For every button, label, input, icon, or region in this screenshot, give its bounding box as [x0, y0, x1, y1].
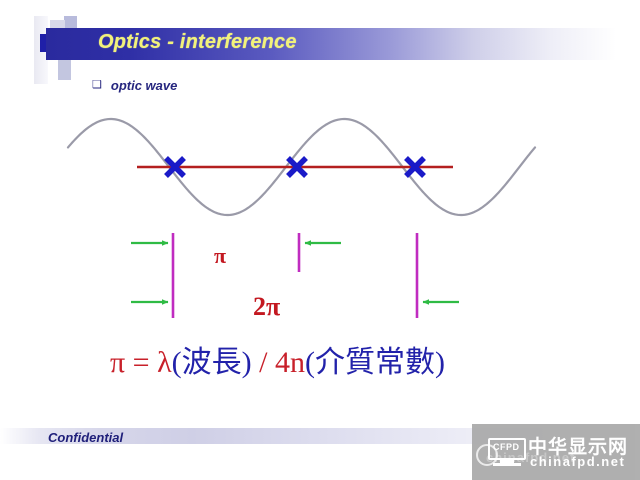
formula-part-5: 4n — [275, 346, 305, 379]
pi-label-half: 2π — [253, 292, 280, 322]
crossing-marker-group — [166, 158, 424, 176]
formula-part-0: π — [110, 346, 125, 379]
crossing-marker-2-stroke-b — [288, 158, 306, 176]
pi-label-quarter: π — [214, 243, 226, 269]
crossing-marker-2-stroke-a — [288, 158, 306, 176]
sine-wave-path — [68, 119, 535, 215]
confidential-label: Confidential — [48, 430, 123, 445]
crossing-marker-1-stroke-a — [166, 158, 184, 176]
formula-part-1: = — [125, 346, 157, 379]
interference-diagram — [0, 0, 640, 480]
crossing-marker-1 — [166, 158, 184, 176]
crossing-marker-2 — [288, 158, 306, 176]
site-watermark: CFPD chinafpd.net 中华显示网 chinafpd.net — [472, 424, 640, 480]
phase-formula: π = λ(波長) / 4n(介質常數) — [110, 346, 445, 379]
hollow-square-bullet-icon: ❑ — [92, 80, 102, 91]
formula-part-3: (波長) — [172, 346, 252, 379]
formula-part-4: / — [252, 346, 275, 379]
formula-part-2: λ — [157, 346, 172, 379]
crossing-marker-3-stroke-b — [406, 158, 424, 176]
slide-canvas: Optics - interference ❑ optic wave π 2π … — [0, 0, 640, 480]
crossing-marker-3-stroke-a — [406, 158, 424, 176]
tick-line-group — [173, 233, 417, 318]
watermark-url: chinafpd.net — [530, 454, 625, 469]
bullet-row: ❑ optic wave — [92, 78, 177, 93]
crossing-marker-1-stroke-b — [166, 158, 184, 176]
arrow-group — [131, 243, 459, 302]
crossing-marker-3 — [406, 158, 424, 176]
sine-wave-curve — [68, 119, 535, 215]
bullet-label: optic wave — [111, 78, 177, 93]
formula-part-6: (介質常數) — [305, 346, 445, 379]
page-title: Optics - interference — [98, 31, 297, 54]
